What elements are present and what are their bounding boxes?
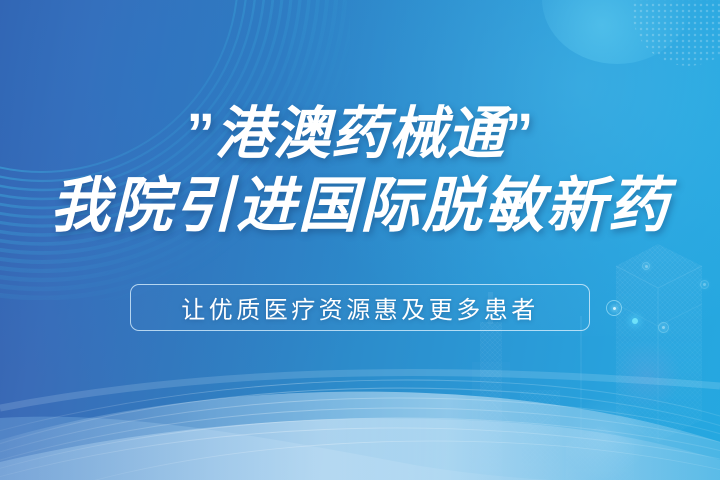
city-skyline-silhouette-icon — [420, 230, 720, 480]
glowing-node-icon — [632, 318, 638, 324]
subtitle-box: 让优质医疗资源惠及更多患者 — [130, 284, 590, 331]
title-line-1: ”港澳药械通” — [187, 104, 534, 164]
banner-text-content: ”港澳药械通” 我院引进国际脱敏新药 让优质医疗资源惠及更多患者 — [0, 0, 720, 480]
top-right-glow — [542, 0, 692, 64]
close-quote-mark: ” — [505, 102, 534, 166]
title-line-2: 我院引进国际脱敏新药 — [50, 174, 670, 238]
promo-banner: ”港澳药械通” 我院引进国际脱敏新药 让优质医疗资源惠及更多患者 — [0, 0, 720, 480]
open-quote-mark: ” — [187, 102, 216, 166]
glowing-node-icon — [700, 280, 709, 289]
glowing-node-icon — [606, 300, 622, 316]
soft-glow-haze — [560, 398, 650, 478]
subtitle-text: 让优质医疗资源惠及更多患者 — [181, 290, 539, 325]
glowing-node-icon — [658, 322, 669, 333]
title-line-1-text: 港澳药械通 — [215, 102, 505, 166]
soft-glow-haze — [612, 340, 682, 410]
halftone-sphere-icon — [632, 0, 720, 66]
glowing-node-icon — [642, 262, 650, 270]
